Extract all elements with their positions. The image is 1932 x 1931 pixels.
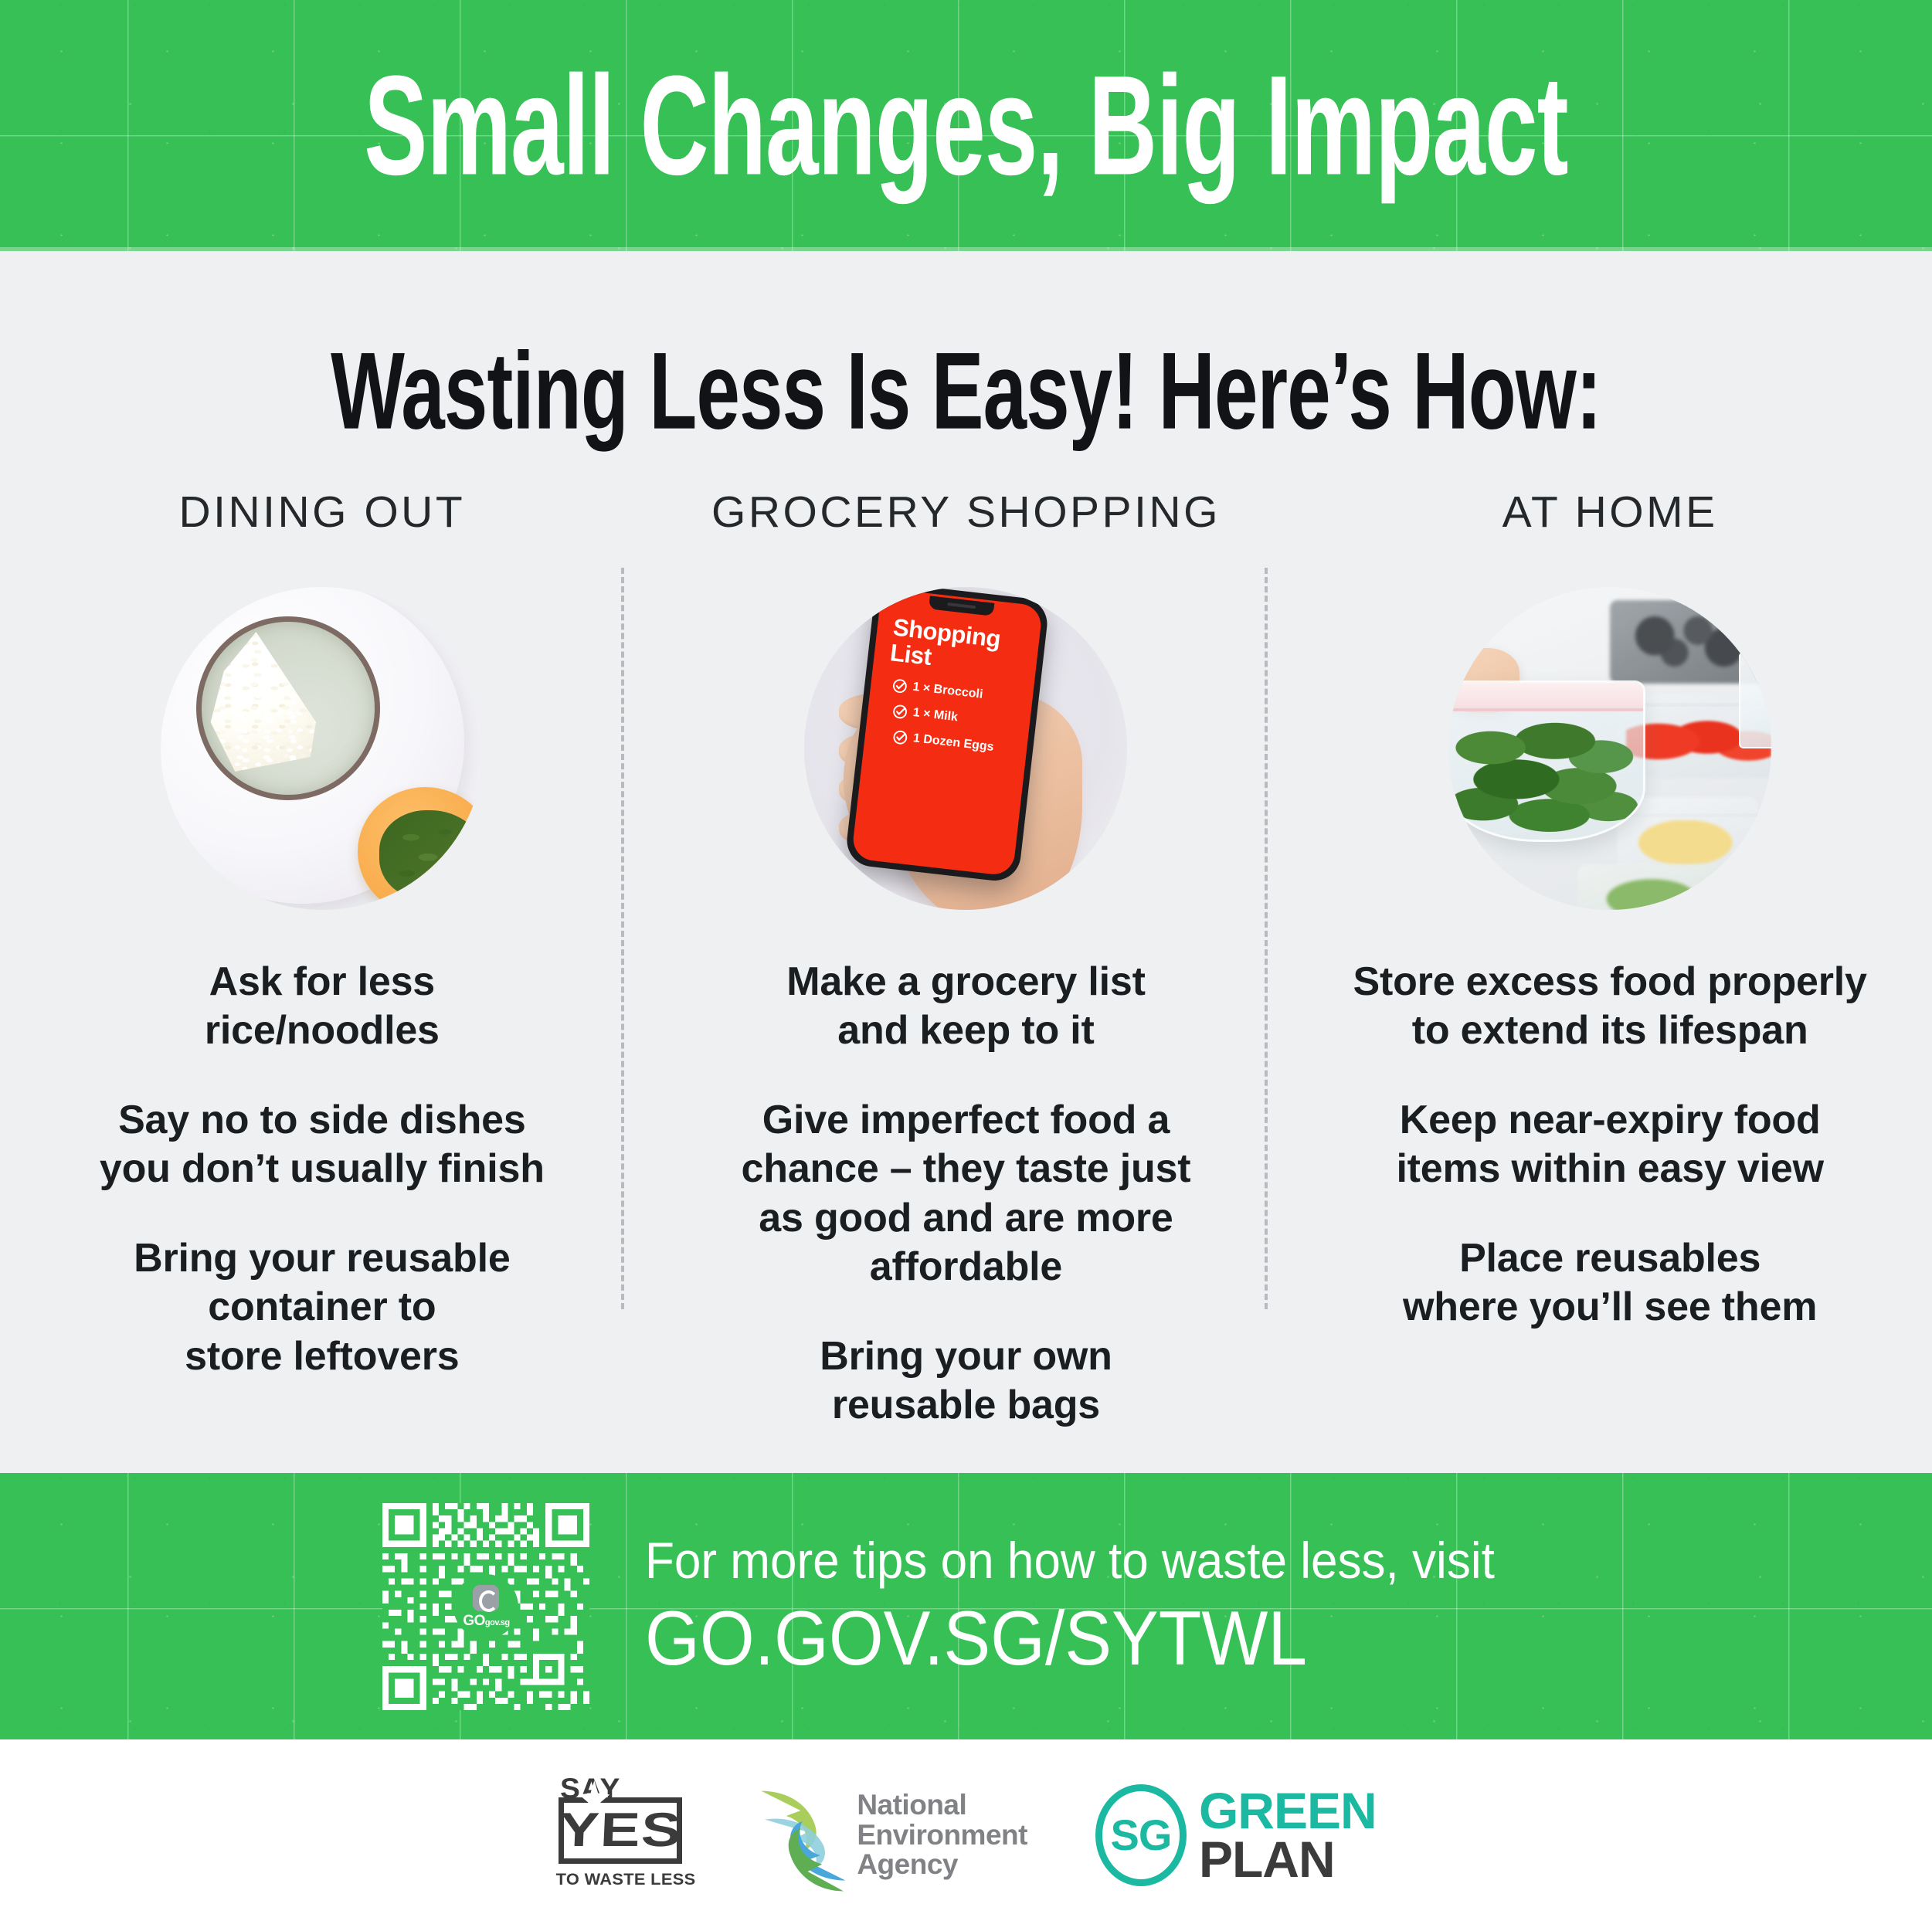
tip-item: Give imperfect food a chance – they tast…	[742, 1096, 1191, 1292]
tips-columns: DINING OUT Ask for less rice/noodles Say…	[0, 475, 1932, 1471]
fridge-container-bottom	[1577, 864, 1726, 910]
yes-label: YES	[559, 1807, 684, 1855]
glass-container-shape	[1448, 680, 1645, 842]
sg-green-plan-logo: SG GREEN PLAN	[1095, 1784, 1377, 1886]
section-title: Wasting Less Is Easy! Here’s How:	[135, 328, 1797, 454]
footer-url[interactable]: GO.GOV.SG/SYTWL	[645, 1594, 1476, 1682]
footer-content: GOgov.sg For more tips on how to waste l…	[0, 1473, 1932, 1739]
tip-item: Ask for less rice/noodles	[205, 958, 440, 1056]
go-mark-icon	[473, 1585, 499, 1611]
footer-cta: For more tips on how to waste less, visi…	[645, 1531, 1549, 1682]
side-dish-shape	[358, 787, 484, 910]
shopping-list-phone-photo: Shopping List 1 × Broccoli	[804, 587, 1127, 910]
yes-box: YES	[559, 1797, 682, 1864]
list-item: 1 × Broccoli	[891, 677, 1017, 706]
partner-logos: SAY YES TO WASTE LESS National Environme…	[0, 1739, 1932, 1931]
fridge-containers-photo	[1448, 587, 1771, 910]
rice-bowl-photo	[161, 587, 484, 910]
tip-item: Place reusables where you’ll see them	[1403, 1234, 1817, 1332]
go-gov-sg-logo: GOgov.sg	[453, 1574, 518, 1639]
tips-list-dining-out: Ask for less rice/noodles Say no to side…	[0, 958, 644, 1381]
tip-item: Bring your reusable container to store l…	[134, 1234, 510, 1381]
smartphone-shape: Shopping List 1 × Broccoli	[844, 587, 1049, 884]
plan-label: PLAN	[1199, 1835, 1377, 1884]
list-item: 1 × Milk	[891, 704, 1014, 732]
tips-list-grocery-shopping: Make a grocery list and keep to it Give …	[644, 958, 1289, 1430]
list-item-label: 1 × Broccoli	[912, 680, 983, 702]
check-circle-icon	[891, 677, 908, 694]
list-item-label: 1 × Milk	[912, 706, 958, 725]
tip-item: Keep near-expiry food items within easy …	[1396, 1096, 1823, 1194]
column-heading-dining-out: DINING OUT	[179, 475, 466, 568]
nea-label: National Environment Agency	[857, 1790, 1027, 1881]
container-clip	[1739, 652, 1771, 748]
green-label: GREEN	[1199, 1787, 1377, 1835]
shopping-list-items: 1 × Broccoli 1 × Milk	[880, 677, 1017, 758]
go-gov-sg-label: GOgov.sg	[463, 1614, 509, 1628]
to-waste-less-label: TO WASTE LESS	[556, 1871, 691, 1889]
list-item: 1 Dozen Eggs	[892, 729, 1011, 757]
phone-notch	[928, 596, 993, 616]
sg-ring-icon: SG	[1095, 1784, 1187, 1886]
footer-cta-text: For more tips on how to waste less, visi…	[645, 1531, 1495, 1590]
qr-code[interactable]: GOgov.sg	[382, 1503, 589, 1710]
content-panel: Wasting Less Is Easy! Here’s How: DINING…	[0, 251, 1932, 1473]
tip-item: Say no to side dishes you don’t usually …	[100, 1096, 545, 1194]
tips-list-at-home: Store excess food properly to extend its…	[1288, 958, 1932, 1332]
container-lid	[1448, 680, 1645, 711]
list-item-label: 1 Dozen Eggs	[912, 731, 994, 755]
column-heading-at-home: AT HOME	[1502, 475, 1718, 568]
rice-mound	[209, 632, 320, 777]
say-yes-to-waste-less-logo: SAY YES TO WASTE LESS	[555, 1774, 691, 1896]
check-circle-icon	[892, 729, 908, 745]
tip-item: Store excess food properly to extend its…	[1353, 958, 1867, 1056]
column-dining-out: DINING OUT Ask for less rice/noodles Say…	[0, 475, 644, 1471]
leafy-greens-shape	[1454, 721, 1638, 833]
nea-swoosh-icon	[759, 1777, 849, 1894]
tip-item: Make a grocery list and keep to it	[786, 958, 1145, 1056]
column-heading-grocery-shopping: GROCERY SHOPPING	[711, 475, 1221, 568]
green-plan-wordmark: GREEN PLAN	[1199, 1787, 1377, 1885]
national-environment-agency-logo: National Environment Agency	[759, 1777, 1027, 1894]
column-grocery-shopping: GROCERY SHOPPING Shopping List	[644, 475, 1289, 1471]
phone-screen: Shopping List 1 × Broccoli	[851, 588, 1042, 876]
page-title: Small Changes, Big Impact	[174, 0, 1758, 279]
greens-shape	[379, 810, 484, 901]
shopping-list-title: Shopping List	[888, 614, 1024, 680]
rice-bowl-shape	[196, 616, 380, 800]
check-circle-icon	[891, 704, 908, 720]
sg-label: SG	[1110, 1814, 1171, 1857]
column-at-home: AT HOME Store excess food properly to ex…	[1288, 475, 1932, 1471]
tip-item: Bring your own reusable bags	[820, 1332, 1112, 1430]
